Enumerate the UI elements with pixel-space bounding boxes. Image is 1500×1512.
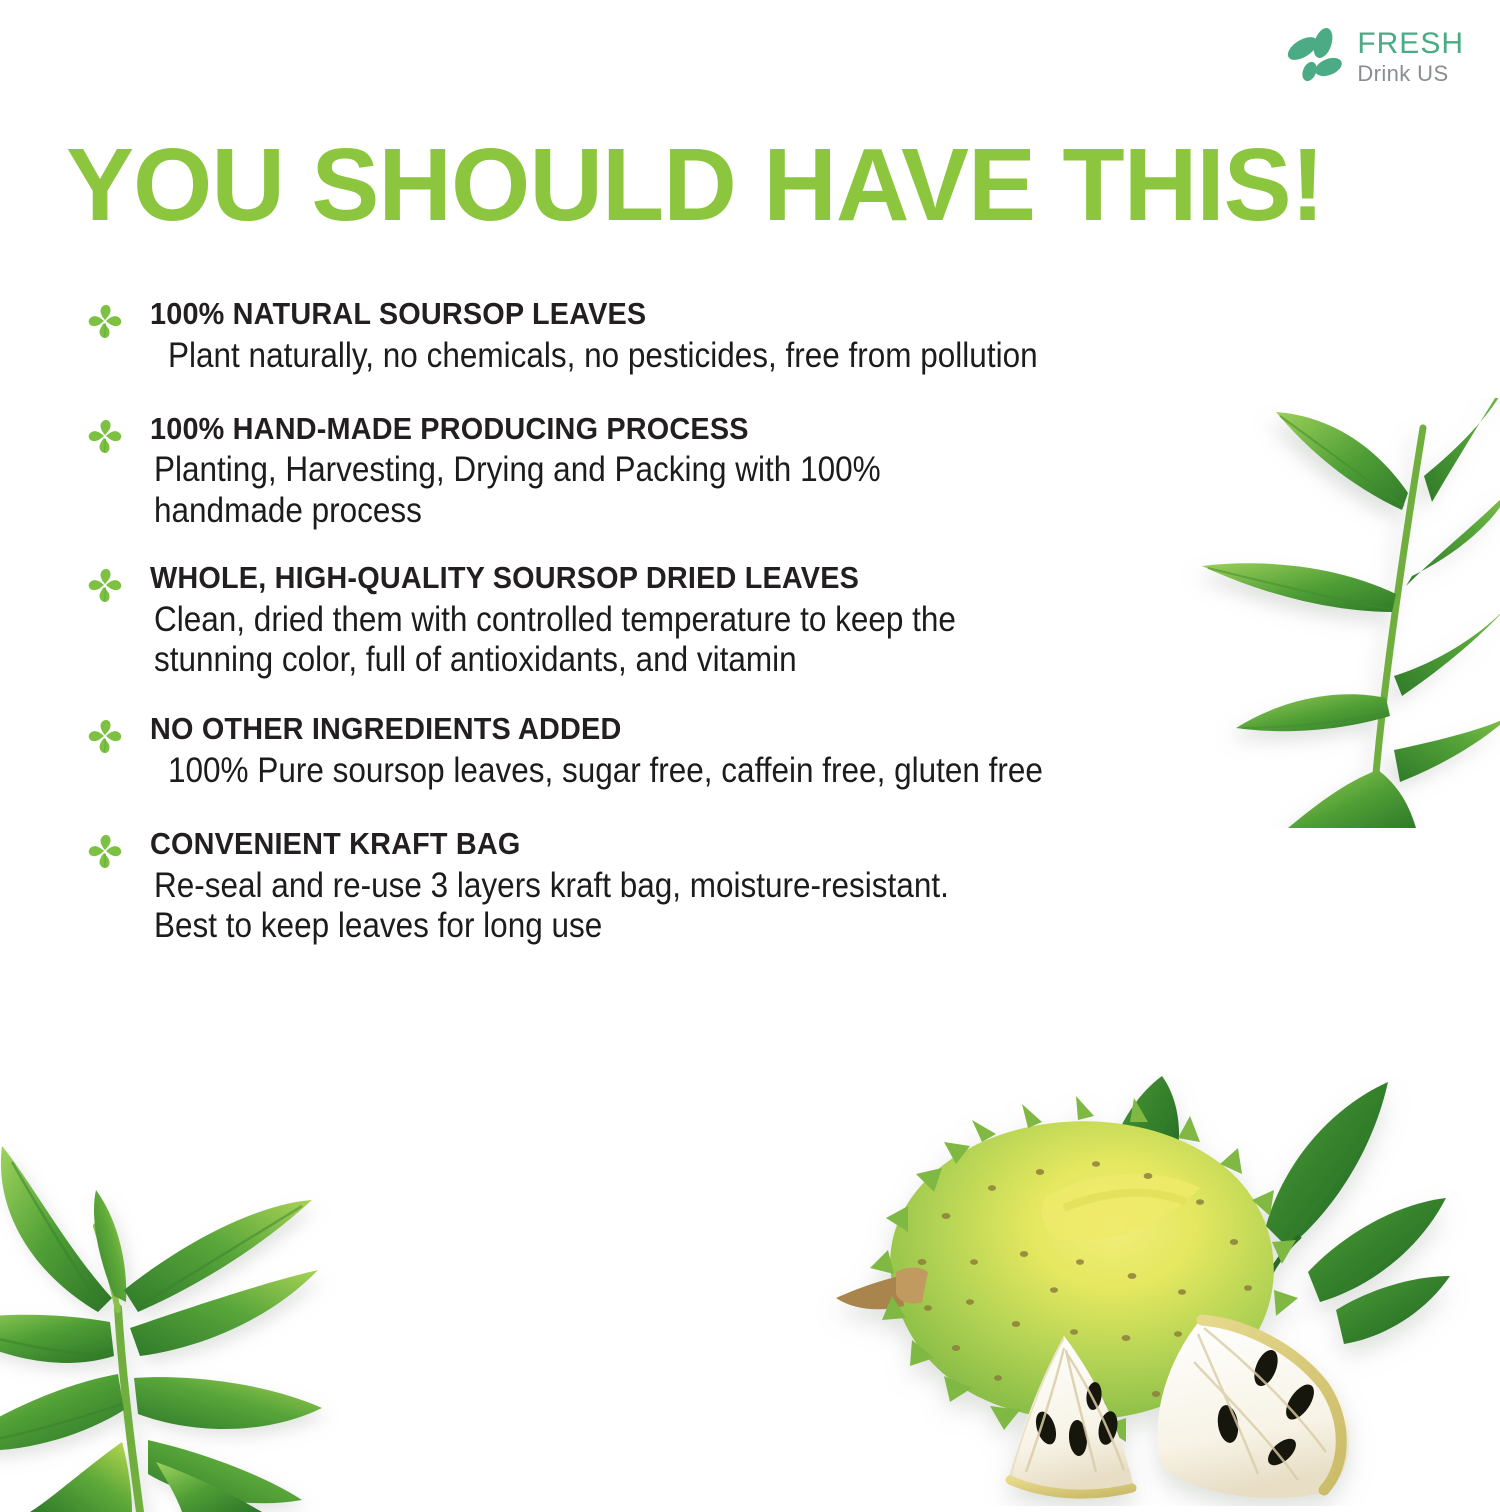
feature-body: Planting, Harvesting, Drying and Packing… [154, 450, 1297, 532]
list-item: CONVENIENT KRAFT BAG Re-seal and re-use … [84, 826, 1424, 947]
four-leaf-clover-icon [84, 717, 126, 759]
list-item: NO OTHER INGREDIENTS ADDED 100% Pure sou… [84, 711, 1424, 792]
list-item: 100% NATURAL SOURSOP LEAVES Plant natura… [84, 296, 1424, 377]
feature-title: WHOLE, HIGH-QUALITY SOURSOP DRIED LEAVES [150, 560, 1335, 597]
leaf-cluster-icon [1283, 26, 1345, 88]
page-title: YOU SHOULD HAVE THIS! [66, 133, 1412, 236]
feature-body: Clean, dried them with controlled temper… [154, 600, 1297, 682]
four-leaf-clover-icon [84, 417, 126, 459]
brand-name-secondary: Drink US [1357, 63, 1464, 85]
soursop-leaf-branch-image [0, 1122, 392, 1512]
soursop-fruit-with-slices-image [796, 1076, 1486, 1506]
four-leaf-clover-icon [84, 566, 126, 608]
feature-title: NO OTHER INGREDIENTS ADDED [150, 711, 1335, 748]
feature-body: Re-seal and re-use 3 layers kraft bag, m… [154, 866, 1297, 948]
brand-logo: FRESH Drink US [1283, 26, 1464, 88]
brand-name-primary: FRESH [1357, 29, 1464, 59]
list-item: WHOLE, HIGH-QUALITY SOURSOP DRIED LEAVES… [84, 560, 1424, 681]
feature-body: 100% Pure soursop leaves, sugar free, ca… [168, 751, 1298, 792]
feature-title: 100% HAND-MADE PRODUCING PROCESS [150, 411, 1335, 448]
feature-body: Plant naturally, no chemicals, no pestic… [168, 336, 1298, 377]
brand-wordmark: FRESH Drink US [1357, 29, 1464, 85]
feature-list: 100% NATURAL SOURSOP LEAVES Plant natura… [84, 296, 1424, 947]
feature-title: CONVENIENT KRAFT BAG [150, 826, 1335, 863]
four-leaf-clover-icon [84, 302, 126, 344]
feature-title: 100% NATURAL SOURSOP LEAVES [150, 296, 1335, 333]
four-leaf-clover-icon [84, 832, 126, 874]
list-item: 100% HAND-MADE PRODUCING PROCESS Plantin… [84, 411, 1424, 532]
